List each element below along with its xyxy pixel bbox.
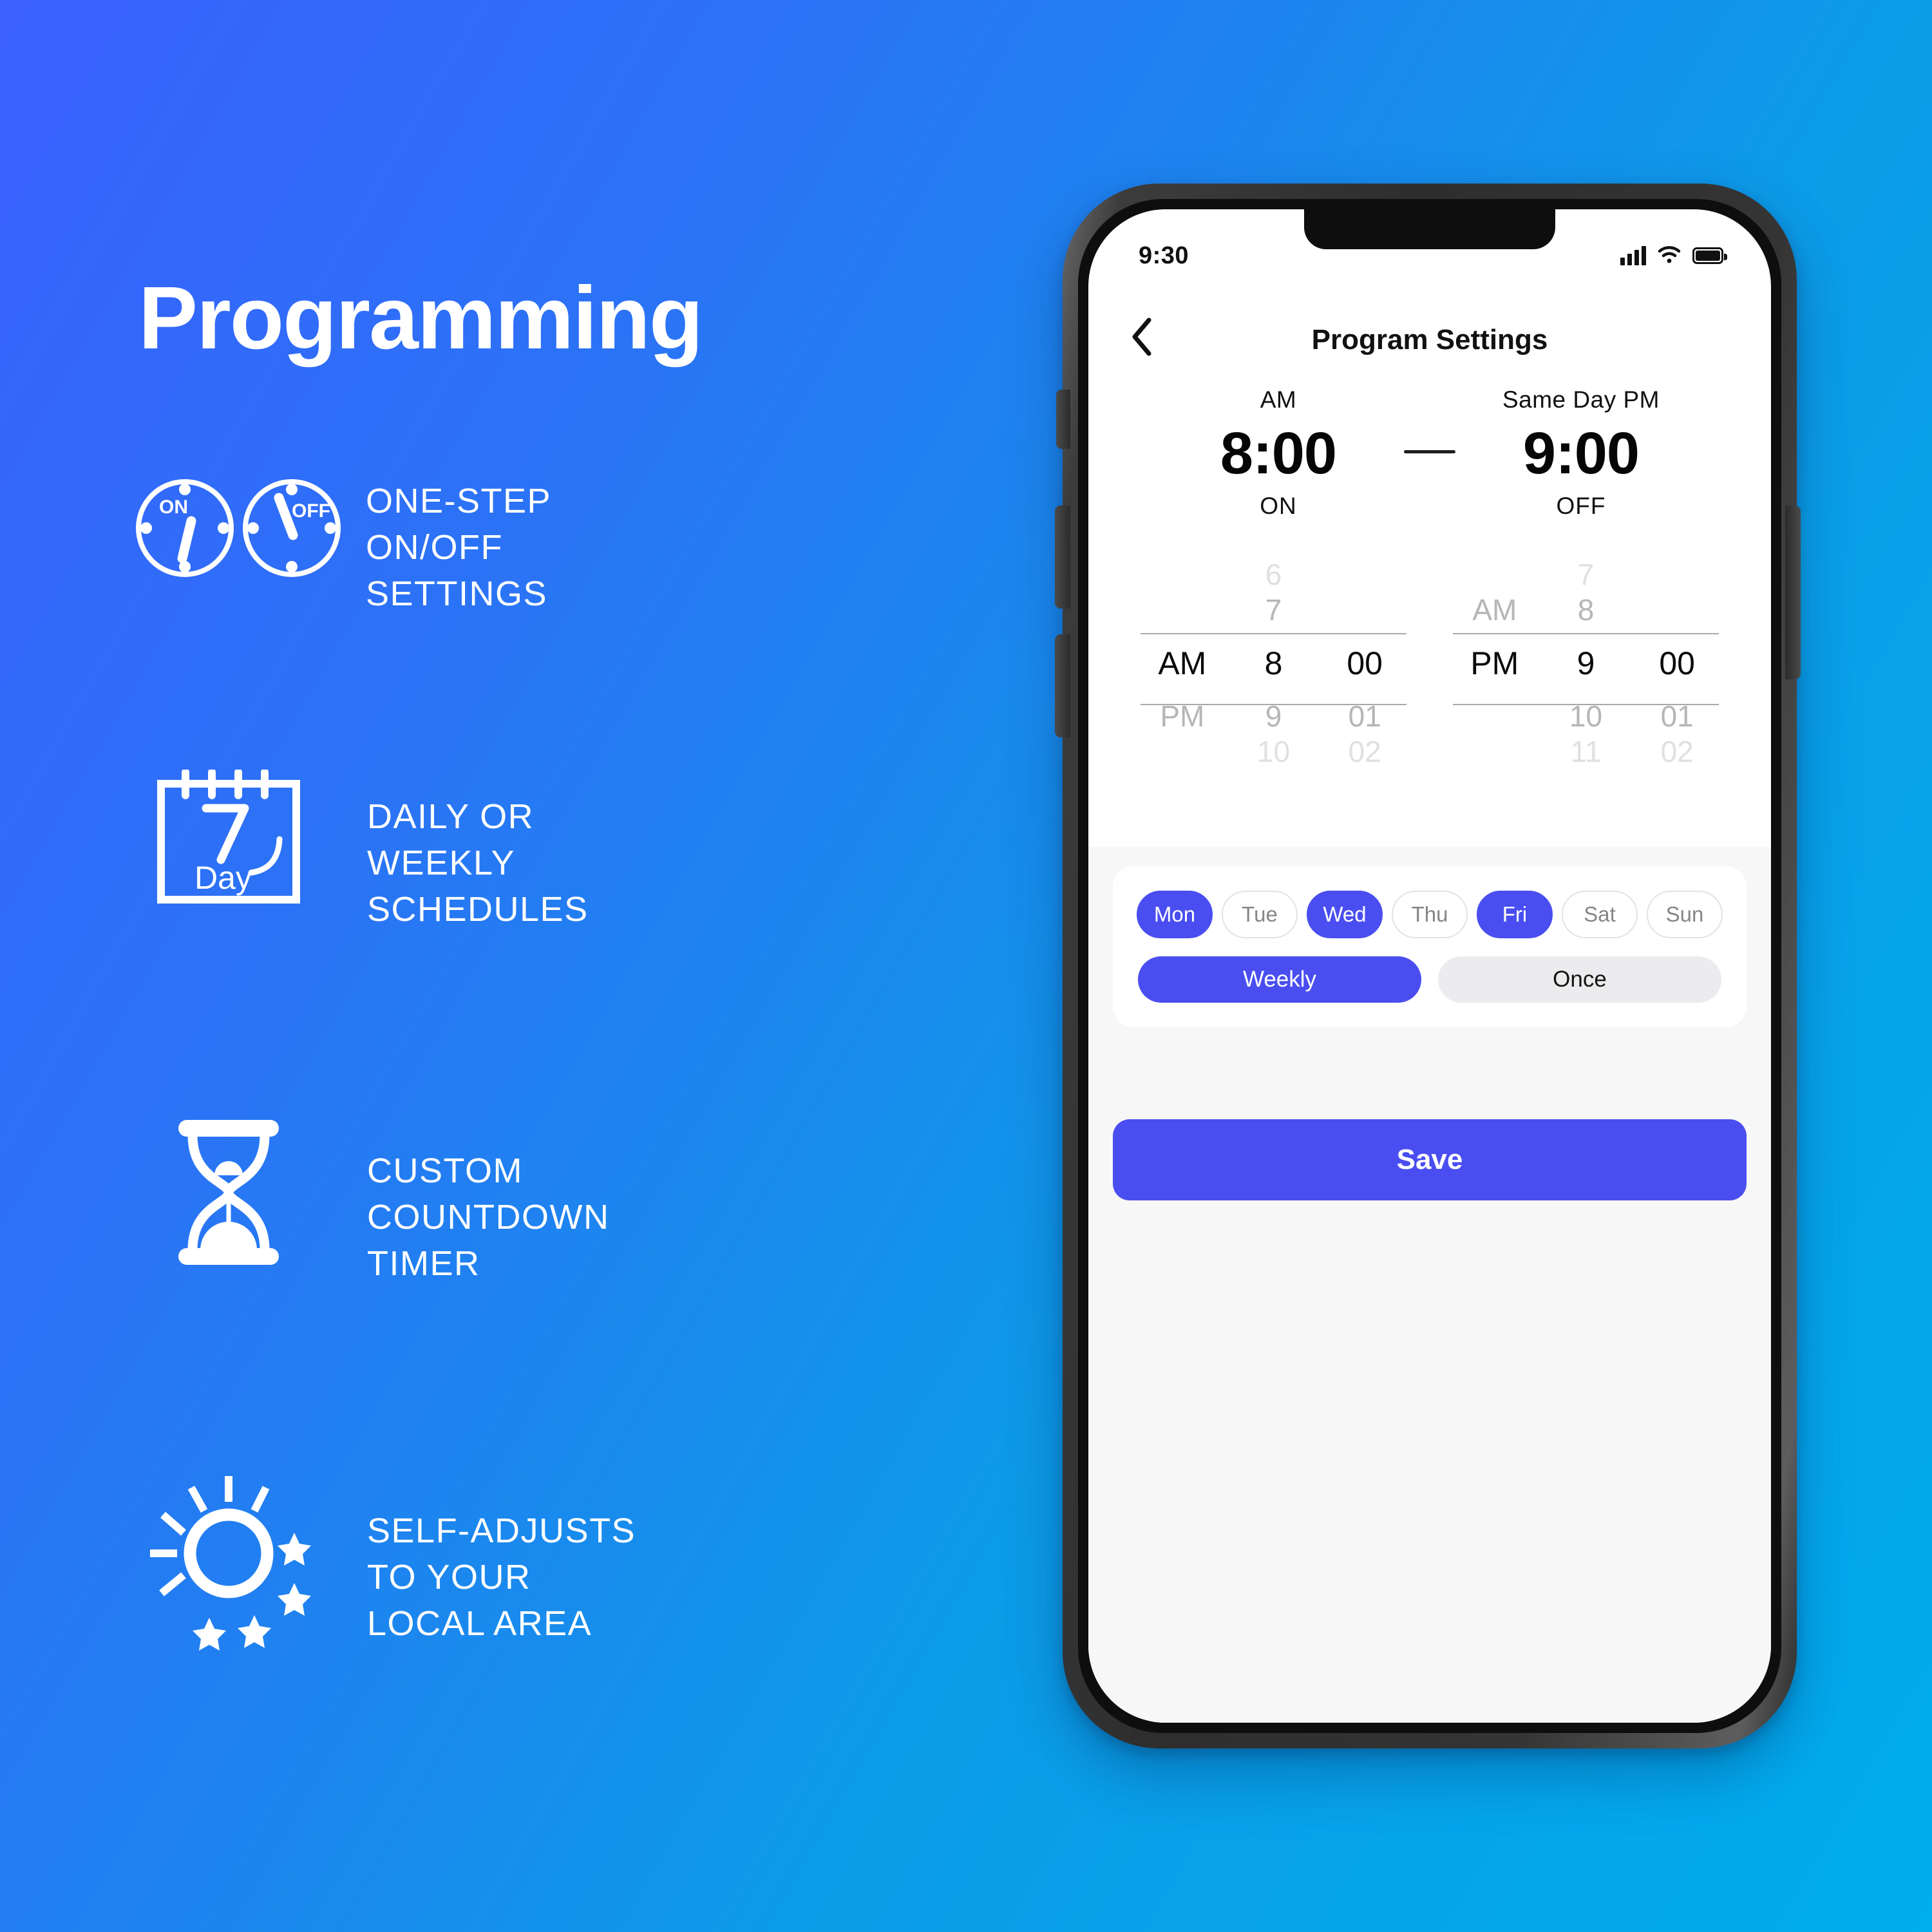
svg-text:OFF: OFF [292, 500, 330, 522]
picker-option: AM [1449, 592, 1540, 628]
picker-selection-line-bottom [1141, 704, 1406, 705]
picker-selection-line-top [1453, 633, 1719, 634]
silent-switch[interactable] [1056, 390, 1070, 449]
picker-selection-line-bottom [1453, 704, 1719, 705]
battery-full-icon [1692, 247, 1723, 264]
picker-option [1137, 592, 1228, 628]
on-state-label: ON [1153, 493, 1404, 520]
off-state-label: OFF [1455, 493, 1707, 520]
page-title: Programming [138, 274, 702, 363]
on-time-summary: AM 8:00 ON [1153, 386, 1404, 520]
picker-option: 02 [1319, 734, 1410, 770]
feature-label: CUSTOM COUNTDOWN TIMER [335, 1117, 609, 1287]
picker-option: 7 [1540, 557, 1632, 592]
on-period-label: AM [1153, 386, 1404, 413]
repeat-mode-selector: Weekly Once [1130, 956, 1730, 1003]
status-bar: 9:30 [1088, 209, 1771, 280]
schedule-card: Mon Tue Wed Thu Fri Sat Sun Weekly Once [1113, 866, 1747, 1027]
status-time: 9:30 [1139, 242, 1189, 270]
on-period-column[interactable]: AM PM [1137, 557, 1228, 770]
left-marketing-panel: Programming ON OFF ONE-STEP ON/OFF SETTI… [0, 0, 1005, 1932]
time-pickers: AM PM 6 7 8 9 10 00 [1088, 557, 1771, 770]
svg-text:ON: ON [159, 497, 188, 518]
sun-stars-icon [122, 1468, 335, 1662]
feature-item-local-area: SELF-ADJUSTS TO YOUR LOCAL AREA [122, 1468, 636, 1662]
volume-down-button[interactable] [1055, 634, 1070, 737]
picker-selected-option: AM [1137, 628, 1228, 699]
picker-option: 7 [1228, 592, 1320, 628]
day-pill-sun[interactable]: Sun [1647, 891, 1723, 938]
feature-item-countdown: CUSTOM COUNTDOWN TIMER [122, 1117, 609, 1287]
picker-option [1449, 734, 1540, 770]
chevron-left-icon[interactable] [1119, 311, 1164, 363]
feature-label: DAILY OR WEEKLY SCHEDULES [335, 770, 589, 933]
picker-selected-option: PM [1449, 628, 1540, 699]
picker-option [1631, 592, 1723, 628]
off-period-label: Same Day PM [1455, 386, 1707, 413]
picker-option [1137, 734, 1228, 770]
day-pill-sat[interactable]: Sat [1562, 891, 1638, 938]
picker-selected-option: 00 [1319, 628, 1410, 699]
picker-selected-option: 8 [1228, 628, 1320, 699]
off-time-summary: Same Day PM 9:00 OFF [1455, 386, 1707, 520]
svg-text:Day: Day [194, 860, 252, 896]
picker-option: 8 [1540, 592, 1632, 628]
wifi-icon [1658, 245, 1681, 267]
on-time-value: 8:00 [1153, 420, 1404, 488]
status-icons [1620, 245, 1723, 267]
nav-bar: Program Settings [1088, 305, 1771, 375]
picker-option [1319, 592, 1410, 628]
repeat-weekly-button[interactable]: Weekly [1138, 956, 1421, 1003]
hourglass-icon [122, 1117, 335, 1269]
day-pill-mon[interactable]: Mon [1137, 891, 1213, 938]
off-period-column[interactable]: AM PM [1449, 557, 1540, 770]
day-pill-fri[interactable]: Fri [1477, 891, 1553, 938]
phone-screen: 9:30 Program Settings [1088, 209, 1771, 1723]
off-hour-column[interactable]: 7 8 9 10 11 [1540, 557, 1632, 770]
day-pill-wed[interactable]: Wed [1307, 891, 1383, 938]
picker-option: 11 [1540, 734, 1632, 770]
off-minute-column[interactable]: 00 01 02 [1631, 557, 1723, 770]
picker-selected-option: 9 [1540, 628, 1632, 699]
on-hour-column[interactable]: 6 7 8 9 10 [1228, 557, 1320, 770]
day-pill-tue[interactable]: Tue [1222, 891, 1298, 938]
calendar-7-day-icon: Day [122, 770, 335, 908]
feature-item-schedules: Day DAILY OR WEEKLY SCHEDULES [122, 770, 589, 933]
picker-option [1631, 557, 1723, 592]
picker-selected-option: 00 [1631, 628, 1723, 699]
off-time-picker[interactable]: AM PM 7 8 9 10 11 [1449, 557, 1723, 770]
picker-option [1449, 557, 1540, 592]
on-minute-column[interactable]: 00 01 02 [1319, 557, 1410, 770]
on-off-clocks-icon: ON OFF [122, 473, 354, 583]
picker-option [1319, 557, 1410, 592]
feature-item-on-off: ON OFF ONE-STEP ON/OFF SETTINGS [122, 473, 551, 617]
volume-up-button[interactable] [1055, 506, 1070, 609]
time-range-summary: AM 8:00 ON Same Day PM 9:00 OFF [1088, 386, 1771, 520]
day-selector: Mon Tue Wed Thu Fri Sat Sun [1137, 891, 1723, 938]
feature-label: ONE-STEP ON/OFF SETTINGS [354, 473, 551, 617]
day-pill-thu[interactable]: Thu [1392, 891, 1468, 938]
off-time-value: 9:00 [1455, 420, 1707, 488]
cellular-bars-icon [1620, 246, 1646, 265]
picker-option: 10 [1228, 734, 1320, 770]
picker-option [1137, 557, 1228, 592]
feature-label: SELF-ADJUSTS TO YOUR LOCAL AREA [335, 1468, 636, 1647]
power-button[interactable] [1785, 506, 1801, 679]
repeat-once-button[interactable]: Once [1438, 956, 1721, 1003]
range-separator [1404, 450, 1455, 453]
picker-option: 02 [1631, 734, 1723, 770]
save-button[interactable]: Save [1113, 1119, 1747, 1200]
phone-mockup: 9:30 Program Settings [1024, 184, 1829, 1748]
picker-selection-line-top [1141, 633, 1406, 634]
page-header-title: Program Settings [1088, 305, 1771, 375]
picker-option: 6 [1228, 557, 1320, 592]
on-time-picker[interactable]: AM PM 6 7 8 9 10 00 [1137, 557, 1410, 770]
